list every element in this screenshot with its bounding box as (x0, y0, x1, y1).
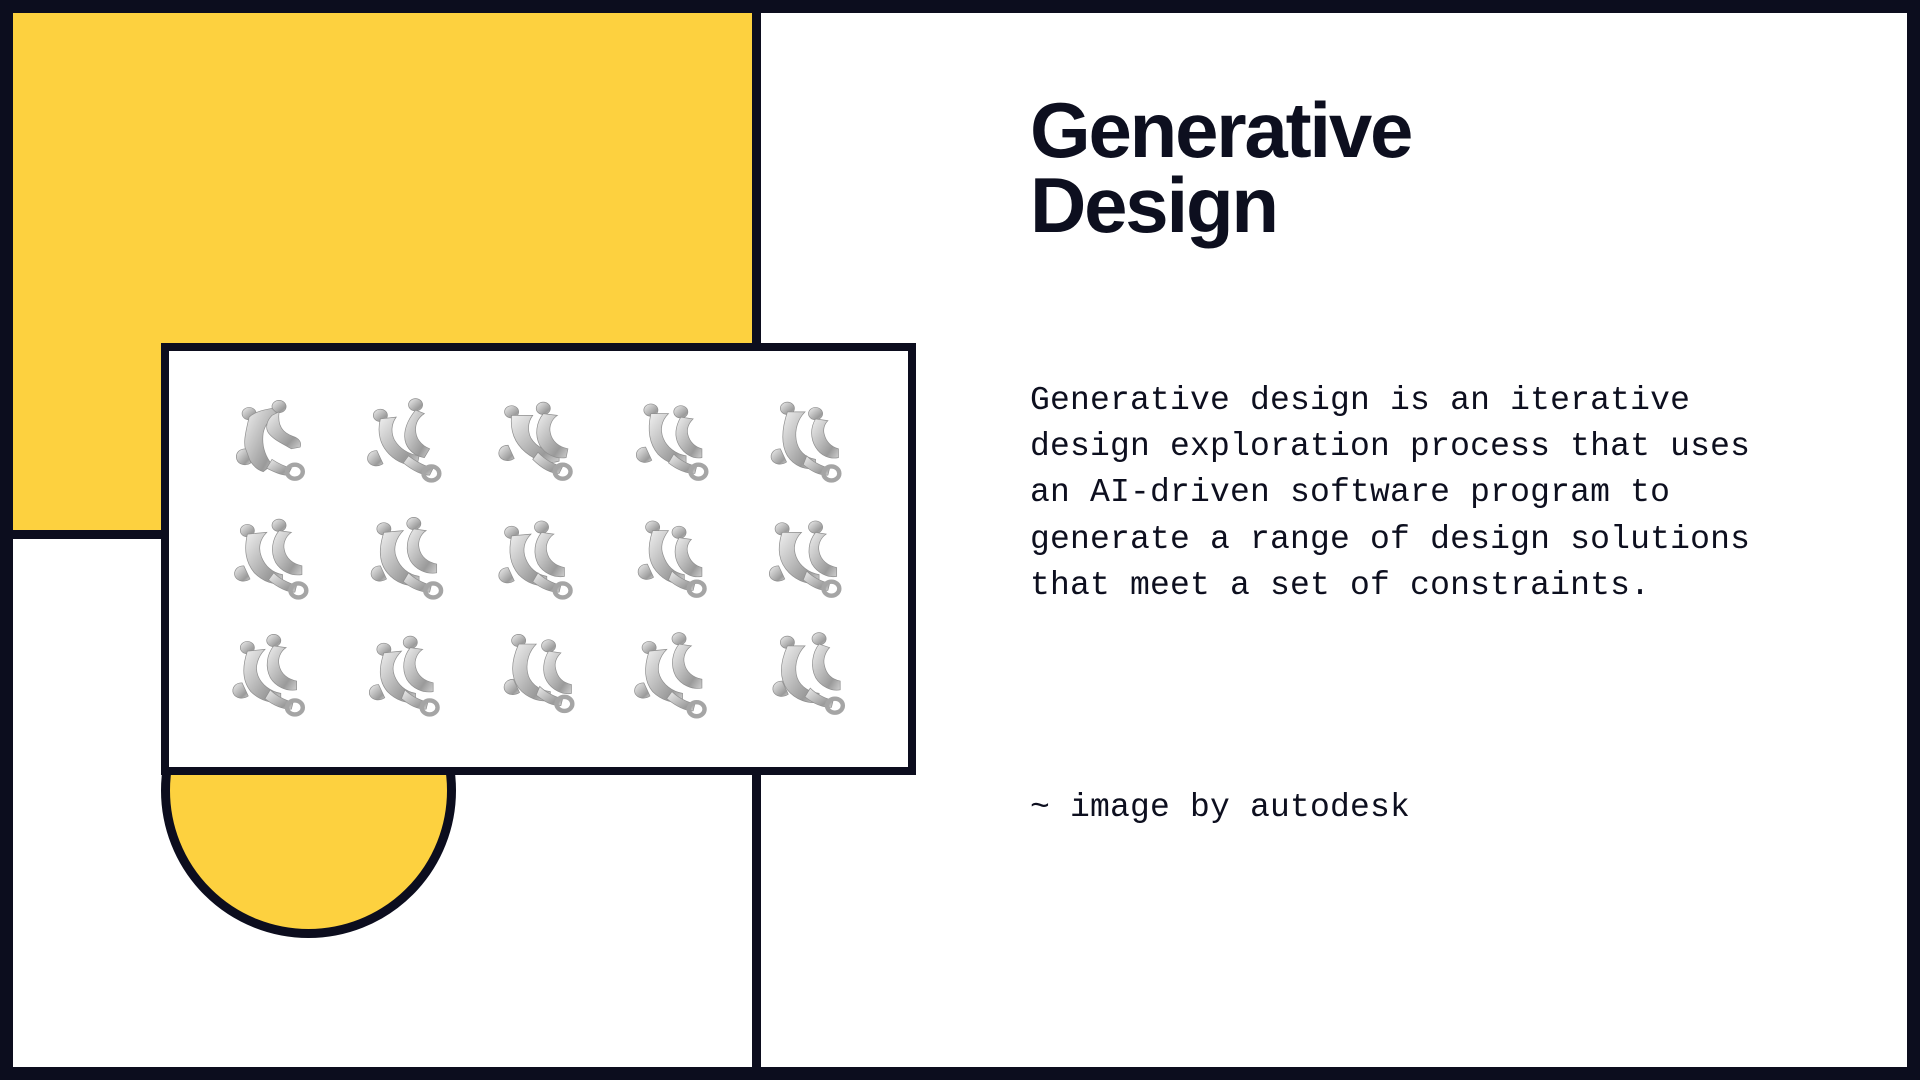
bracket-part-icon (361, 394, 449, 486)
image-credit: ~ image by autodesk (1030, 785, 1410, 831)
parts-grid (177, 359, 900, 759)
slide-canvas: GenerativeDesign Generative design is an… (0, 0, 1920, 1080)
bracket-part-icon (761, 394, 849, 486)
bracket-part-icon (361, 628, 449, 720)
part-item (472, 381, 605, 498)
bracket-part-icon (494, 394, 582, 486)
image-panel (161, 343, 916, 775)
part-item (739, 498, 872, 615)
title-line-2: Design (1030, 161, 1277, 249)
bracket-part-icon (628, 628, 716, 720)
bracket-part-icon (494, 628, 582, 720)
bracket-part-icon (228, 628, 316, 720)
part-item (205, 381, 338, 498)
part-item (205, 498, 338, 615)
text-column: GenerativeDesign Generative design is an… (1030, 13, 1790, 1067)
part-item (739, 616, 872, 733)
bracket-part-icon (361, 511, 449, 603)
body-paragraph: Generative design is an iterative design… (1030, 378, 1770, 609)
part-item (739, 381, 872, 498)
bracket-part-icon (628, 511, 716, 603)
part-item (605, 381, 738, 498)
bracket-part-icon (628, 394, 716, 486)
page-title: GenerativeDesign (1030, 93, 1730, 243)
part-item (605, 616, 738, 733)
part-item (605, 498, 738, 615)
part-item (472, 616, 605, 733)
bracket-part-icon (228, 511, 316, 603)
part-item (472, 498, 605, 615)
part-item (338, 616, 471, 733)
part-item (205, 616, 338, 733)
bracket-part-icon (494, 511, 582, 603)
bracket-part-icon (761, 628, 849, 720)
part-item (338, 498, 471, 615)
bracket-part-icon (228, 394, 316, 486)
part-item (338, 381, 471, 498)
bracket-part-icon (761, 511, 849, 603)
